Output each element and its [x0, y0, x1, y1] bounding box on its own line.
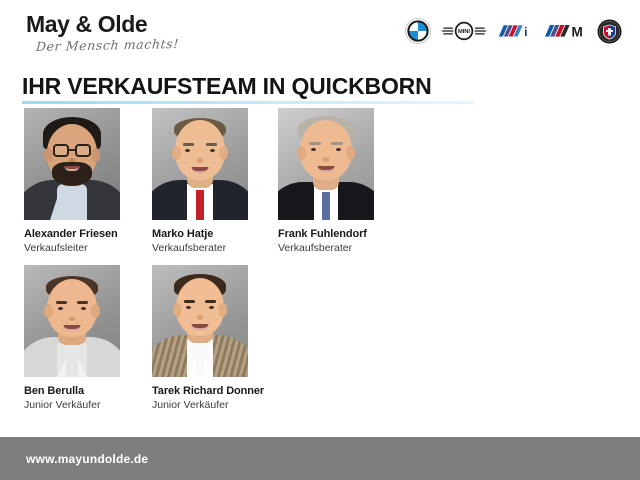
member-name: Marko Hatje: [152, 228, 278, 241]
portrait-photo: [24, 108, 120, 220]
brand-name: May & Olde: [26, 13, 179, 36]
page-title: IHR VERKAUFSTEAM IN QUICKBORN: [22, 74, 474, 98]
page-header: May & Olde Der Mensch machts!: [0, 0, 640, 60]
member-role: Junior Verkäufer: [152, 399, 278, 411]
member-role: Verkaufsberater: [152, 242, 278, 254]
brand-tagline: Der Mensch machts!: [35, 36, 179, 54]
mini-logo: MINI: [442, 20, 486, 42]
title-underline: [22, 101, 474, 104]
portrait-photo: [24, 265, 120, 377]
team-member-card[interactable]: Ben Berulla Junior Verkäufer: [24, 265, 150, 411]
team-member-card[interactable]: Frank Fuhlendorf Verkaufsberater: [278, 108, 404, 254]
member-name: Ben Berulla: [24, 385, 150, 398]
svg-text:M: M: [572, 24, 583, 39]
member-role: Verkaufsberater: [278, 242, 404, 254]
member-name: Tarek Richard Donner: [152, 385, 278, 398]
svg-text:MINI: MINI: [458, 29, 470, 35]
team-member-card[interactable]: Marko Hatje Verkaufsberater: [152, 108, 278, 254]
team-grid: Alexander Friesen Verkaufsleiter: [0, 108, 640, 422]
team-member-card[interactable]: Alexander Friesen Verkaufsleiter: [24, 108, 150, 254]
bmw-logo: [405, 18, 431, 44]
brand-logo[interactable]: May & Olde Der Mensch machts!: [26, 13, 179, 54]
portrait-photo: [152, 265, 248, 377]
website-url[interactable]: www.mayundolde.de: [26, 452, 148, 466]
alpina-logo: [597, 19, 622, 44]
portrait-photo: [278, 108, 374, 220]
page-footer: www.mayundolde.de: [0, 437, 640, 480]
team-row: Ben Berulla Junior Verkäufer: [0, 265, 640, 422]
portrait-photo: [152, 108, 248, 220]
member-role: Junior Verkäufer: [24, 399, 150, 411]
page-title-block: IHR VERKAUFSTEAM IN QUICKBORN: [22, 74, 474, 104]
member-role: Verkaufsleiter: [24, 242, 150, 254]
brand-logo-strip: MINI i: [405, 17, 622, 45]
team-member-card[interactable]: Tarek Richard Donner Junior Verkäufer: [152, 265, 278, 411]
member-name: Alexander Friesen: [24, 228, 150, 241]
svg-text:i: i: [524, 25, 527, 39]
team-row: Alexander Friesen Verkaufsleiter: [0, 108, 640, 265]
bmw-i-logo: i: [497, 22, 533, 41]
bmw-m-logo: M: [544, 22, 586, 41]
member-name: Frank Fuhlendorf: [278, 228, 404, 241]
